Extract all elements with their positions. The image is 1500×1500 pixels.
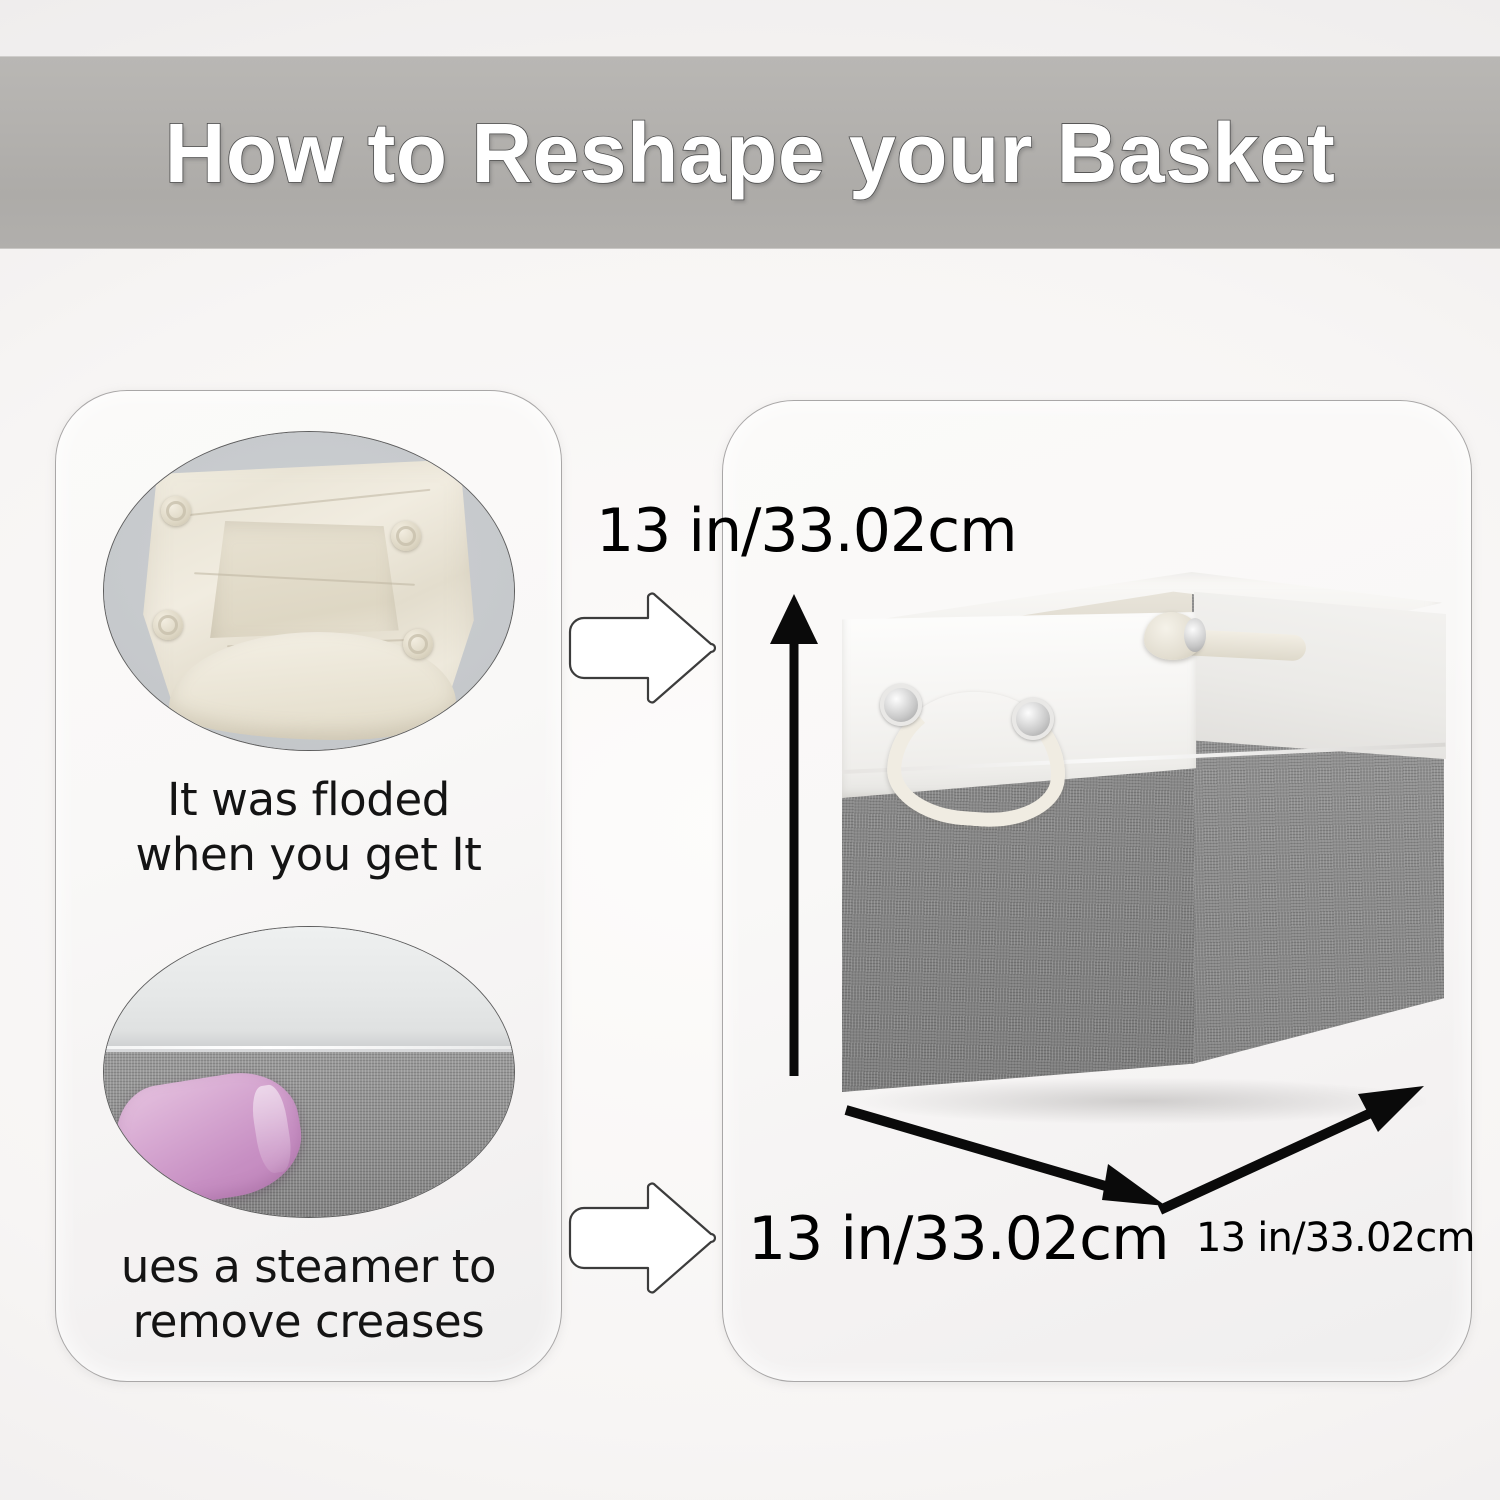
step-folded: It was floded when you get It bbox=[56, 431, 561, 883]
depth-dimension-label: 13 in/33.02cm bbox=[1196, 1215, 1475, 1261]
page-title: How to Reshape your Basket bbox=[165, 111, 1336, 195]
basket-well-shape bbox=[210, 521, 399, 648]
grommet-icon bbox=[880, 684, 922, 726]
width-dimension-arrow-icon bbox=[840, 1100, 1170, 1220]
basket-seam bbox=[104, 1046, 514, 1049]
folded-basket-image bbox=[104, 432, 514, 750]
rope-knot-icon bbox=[391, 521, 421, 551]
basket-body bbox=[836, 566, 1448, 1112]
height-dimension-label: 13 in/33.02cm bbox=[596, 496, 1017, 566]
caption-line: when you get It bbox=[74, 828, 543, 883]
instructions-panel: It was floded when you get It ues a stea… bbox=[55, 390, 562, 1382]
grommet-icon bbox=[1012, 698, 1054, 740]
caption-line: ues a steamer to bbox=[74, 1240, 543, 1295]
title-banner: How to Reshape your Basket bbox=[0, 57, 1500, 248]
rope-knot-icon bbox=[161, 496, 191, 526]
rope-knot-icon bbox=[153, 610, 183, 640]
steamer-image bbox=[104, 927, 514, 1217]
step-folded-caption: It was floded when you get It bbox=[56, 773, 561, 883]
step-steam-caption: ues a steamer to remove creases bbox=[56, 1240, 561, 1350]
flow-arrow-right-icon bbox=[566, 1182, 716, 1294]
rope-knot-icon bbox=[403, 629, 433, 659]
basket-top-band bbox=[104, 927, 514, 1049]
rope-knot-icon bbox=[1144, 612, 1202, 660]
steamer-on-basket-photo bbox=[103, 926, 515, 1218]
step-steam: ues a steamer to remove creases bbox=[56, 926, 561, 1350]
height-dimension-arrow-icon bbox=[752, 590, 842, 1080]
storage-basket-image bbox=[836, 566, 1448, 1112]
depth-dimension-arrow-icon bbox=[1150, 1070, 1430, 1220]
flow-arrow-right-icon bbox=[566, 592, 716, 704]
caption-line: remove creases bbox=[74, 1295, 543, 1350]
folded-basket-photo bbox=[103, 431, 515, 751]
width-dimension-label: 13 in/33.02cm bbox=[748, 1204, 1169, 1274]
caption-line: It was floded bbox=[74, 773, 543, 828]
